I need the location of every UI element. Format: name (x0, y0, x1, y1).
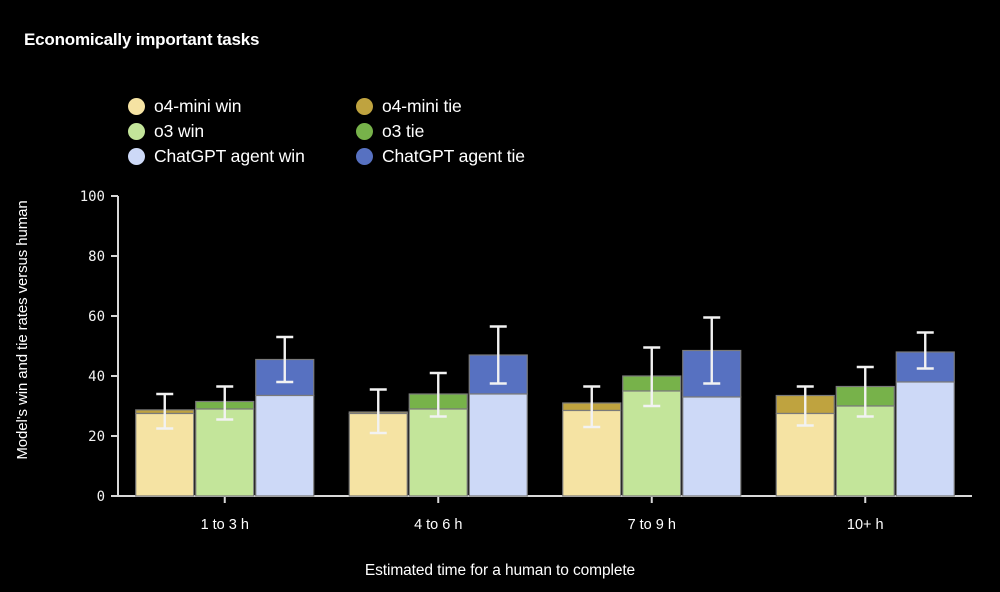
bar-segment-win[interactable] (409, 409, 467, 496)
x-axis-tick-label: 4 to 6 h (414, 517, 462, 533)
y-axis-tick-label: 80 (88, 249, 105, 265)
x-tick-labels-layer: 1 to 3 h4 to 6 h7 to 9 h10+ h (201, 517, 884, 533)
bar-segment-win[interactable] (683, 397, 741, 496)
bars-layer (136, 351, 955, 497)
y-axis-tick-label: 0 (97, 489, 105, 505)
x-axis-tick-label: 1 to 3 h (201, 517, 249, 533)
y-axis-tick-label: 20 (88, 429, 105, 445)
chart-container: Economically important tasks o4-mini win… (0, 0, 1000, 592)
bar-segment-win[interactable] (196, 409, 254, 496)
y-axis-tick-label: 100 (80, 189, 105, 205)
y-axis-tick-label: 60 (88, 309, 105, 325)
plot-area: 020406080100 1 to 3 h4 to 6 h7 to 9 h10+… (0, 0, 1000, 592)
bar-segment-win[interactable] (836, 406, 894, 496)
bar-segment-win[interactable] (469, 394, 527, 496)
bar-segment-win[interactable] (896, 382, 954, 496)
y-axis-tick-label: 40 (88, 369, 105, 385)
x-axis-tick-label: 10+ h (847, 517, 884, 533)
x-axis-tick-label: 7 to 9 h (628, 517, 676, 533)
bar-segment-win[interactable] (256, 396, 314, 497)
